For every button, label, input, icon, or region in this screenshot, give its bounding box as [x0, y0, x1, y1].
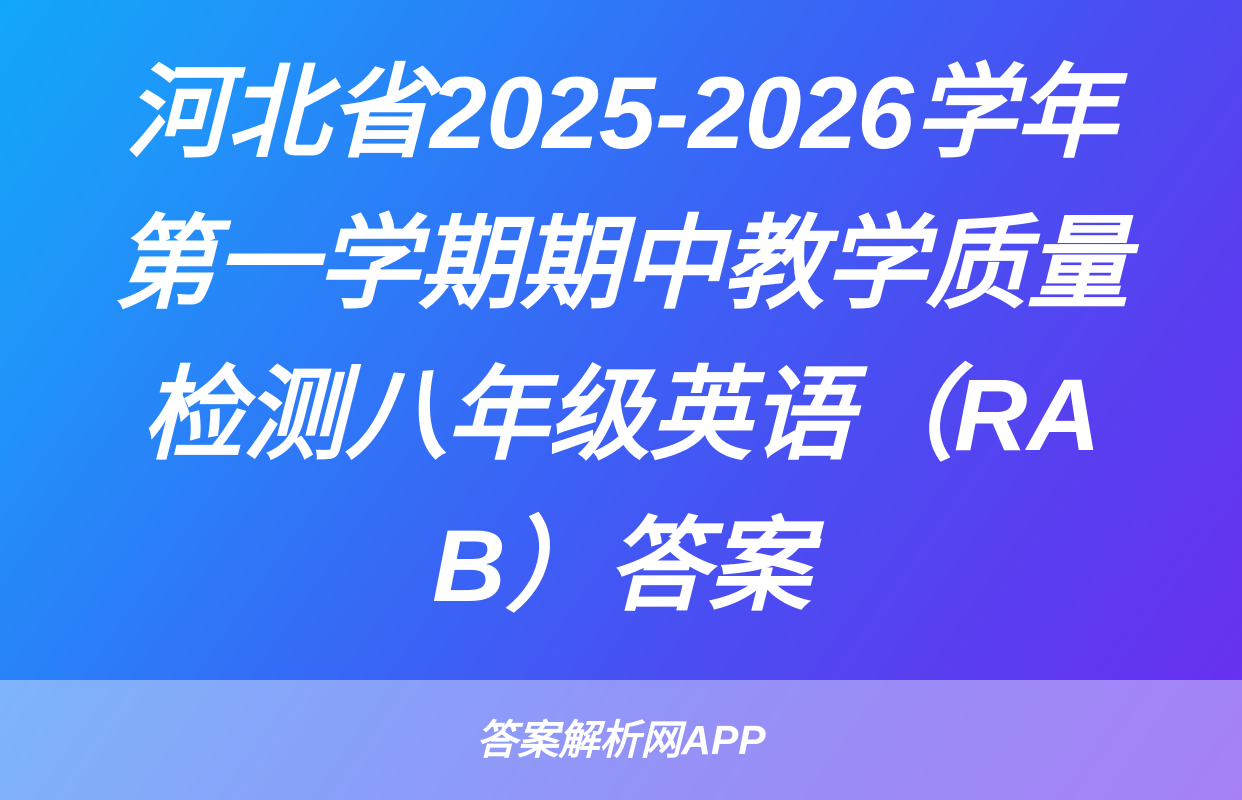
footer-band: 答案解析网APP: [0, 680, 1242, 800]
title-container: 河北省2025-2026学年第一学期期中教学质量检测八年级英语（RAB）答案: [0, 0, 1242, 680]
page-title: 河北省2025-2026学年第一学期期中教学质量检测八年级英语（RAB）答案: [86, 38, 1156, 642]
app-brand-label: 答案解析网APP: [476, 720, 765, 761]
promo-card: 河北省2025-2026学年第一学期期中教学质量检测八年级英语（RAB）答案 答…: [0, 0, 1242, 800]
